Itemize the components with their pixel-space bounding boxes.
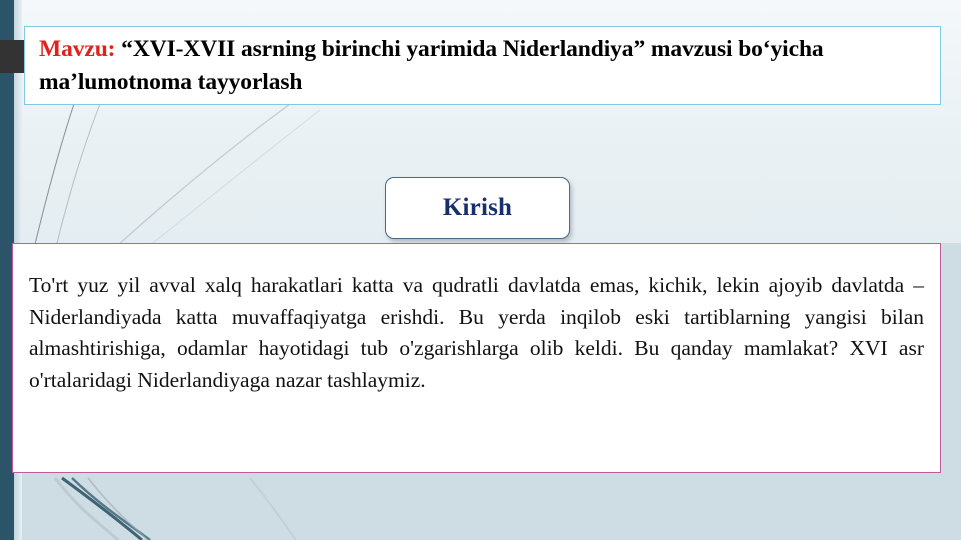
section-button-kirish[interactable]: Kirish — [385, 177, 570, 239]
body-paragraph: To'rt yuz yil avval xalq harakatlari kat… — [29, 270, 924, 396]
title-highlight-label: Mavzu: — [39, 36, 115, 62]
content-box: To'rt yuz yil avval xalq harakatlari kat… — [12, 243, 941, 473]
slide-title-box: Mavzu: “XVI-XVII asrning birinchi yarimi… — [24, 26, 941, 105]
section-button-label: Kirish — [443, 194, 512, 222]
slide-title: Mavzu: “XVI-XVII asrning birinchi yarimi… — [39, 33, 928, 98]
presentation-slide: Mavzu: “XVI-XVII asrning birinchi yarimi… — [0, 0, 961, 540]
title-main-text: “XVI-XVII asrning birinchi yarimida Nide… — [39, 36, 824, 94]
